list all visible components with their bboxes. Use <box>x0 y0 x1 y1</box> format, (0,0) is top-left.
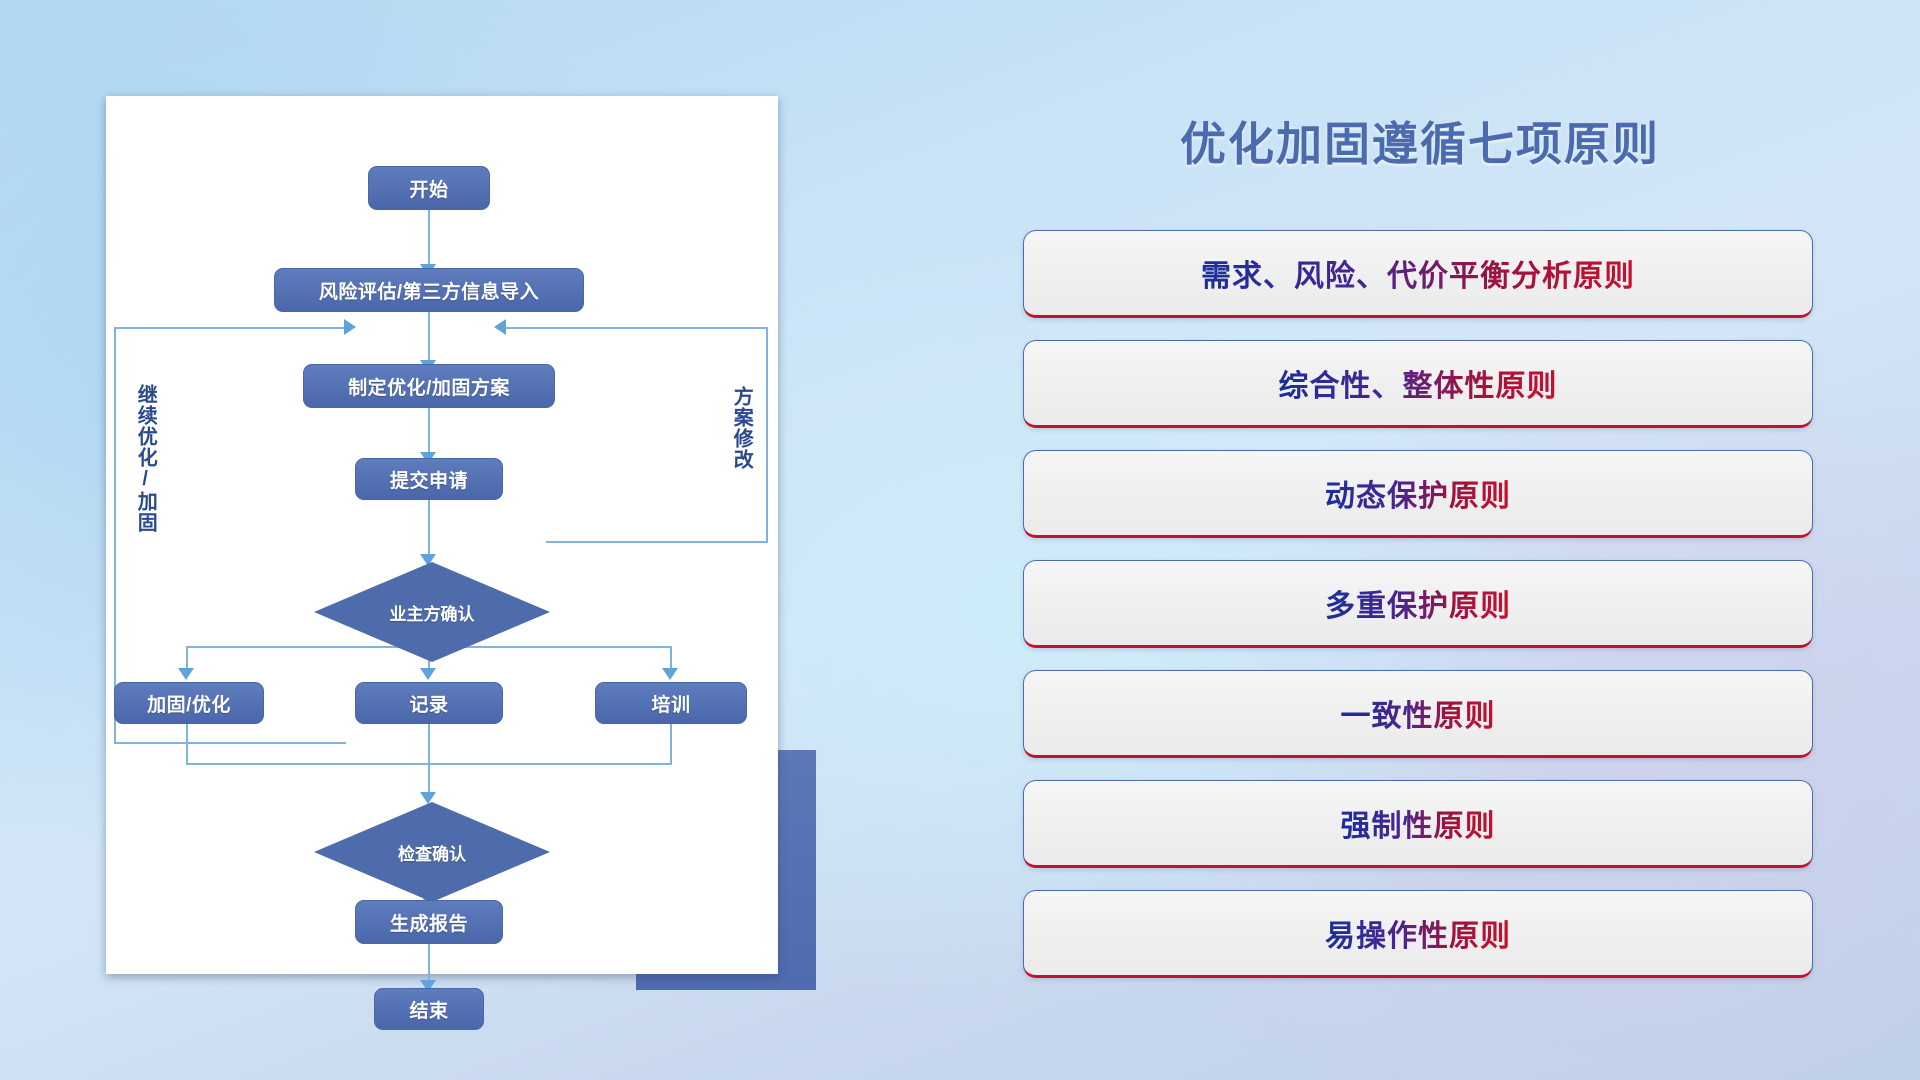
principle-card-label: 综合性、整体性原则 <box>1279 361 1558 405</box>
edge-right-rail-arrow <box>494 319 506 335</box>
flow-node-check-confirm[interactable]: 检查确认 <box>314 802 550 902</box>
flow-node-reinforce-label: 加固/优化 <box>147 690 231 717</box>
flow-node-plan-label: 制定优化/加固方案 <box>348 373 510 400</box>
edge-left-rail-v <box>114 327 116 744</box>
flow-node-start[interactable]: 开始 <box>368 166 490 210</box>
edge-owner-right-h <box>546 541 768 543</box>
flowchart-panel: 开始 风险评估/第三方信息导入 制定优化/加固方案 提交申请 业主方确认 加固/… <box>106 96 778 974</box>
edge-left-rail-arrow <box>344 319 356 335</box>
edge-training-down <box>670 724 672 764</box>
flow-node-owner-confirm-label: 业主方确认 <box>390 600 475 625</box>
principle-card[interactable]: 一致性原则 <box>1023 670 1813 758</box>
flow-node-end-label: 结束 <box>409 996 448 1023</box>
flow-node-generate-report-label: 生成报告 <box>390 909 468 936</box>
principle-card-label: 一致性原则 <box>1341 691 1496 735</box>
edge-record-down <box>428 724 430 798</box>
flow-node-generate-report[interactable]: 生成报告 <box>355 900 503 944</box>
principles-list: 需求、风险、代价平衡分析原则 综合性、整体性原则 动态保护原则 多重保护原则 一… <box>1023 230 1813 1000</box>
edge-branch-mid-arrow <box>420 668 436 680</box>
edge-left-rail-to-plan-h <box>114 327 346 329</box>
edge-label-plan-revision: 方案修改 <box>730 386 751 516</box>
flow-node-plan[interactable]: 制定优化/加固方案 <box>303 364 555 408</box>
flow-node-record[interactable]: 记录 <box>355 682 503 724</box>
flow-node-risk-assessment-label: 风险评估/第三方信息导入 <box>319 277 539 304</box>
principle-card[interactable]: 多重保护原则 <box>1023 560 1813 648</box>
flow-node-check-confirm-label: 检查确认 <box>398 840 466 865</box>
edge-branch-right-arrow <box>662 668 678 680</box>
principle-card-label: 动态保护原则 <box>1325 471 1511 515</box>
principle-card[interactable]: 动态保护原则 <box>1023 450 1813 538</box>
edge-reinforce-down <box>186 724 188 764</box>
edge-label-continue-optimize: 继续优化/加固 <box>134 384 155 564</box>
principle-card[interactable]: 综合性、整体性原则 <box>1023 340 1813 428</box>
flow-node-end[interactable]: 结束 <box>374 988 484 1030</box>
principle-card[interactable]: 强制性原则 <box>1023 780 1813 868</box>
flow-node-training-label: 培训 <box>651 690 690 717</box>
flow-node-record-label: 记录 <box>409 690 448 717</box>
edge-start-to-risk <box>428 210 430 270</box>
edge-check-left-h <box>114 742 346 744</box>
flow-node-submit-application[interactable]: 提交申请 <box>355 458 503 500</box>
edge-branch-left-arrow <box>178 668 194 680</box>
principles-title: 优化加固遵循七项原则 <box>1020 108 1820 174</box>
principle-card-label: 强制性原则 <box>1341 801 1496 845</box>
edge-submit-to-owner <box>428 500 430 562</box>
edge-right-rail-to-plan-h <box>506 327 768 329</box>
principle-card-label: 易操作性原则 <box>1325 911 1511 955</box>
flow-node-submit-application-label: 提交申请 <box>390 466 468 493</box>
edge-merge-to-check-arrow <box>420 792 436 804</box>
flow-node-reinforce[interactable]: 加固/优化 <box>114 682 264 724</box>
slide-canvas: 开始 风险评估/第三方信息导入 制定优化/加固方案 提交申请 业主方确认 加固/… <box>0 0 1920 1080</box>
flow-node-training[interactable]: 培训 <box>595 682 747 724</box>
flow-node-risk-assessment[interactable]: 风险评估/第三方信息导入 <box>274 268 584 312</box>
flow-node-start-label: 开始 <box>409 175 448 202</box>
principle-card-label: 多重保护原则 <box>1325 581 1511 625</box>
principle-card[interactable]: 易操作性原则 <box>1023 890 1813 978</box>
principle-card[interactable]: 需求、风险、代价平衡分析原则 <box>1023 230 1813 318</box>
principle-card-label: 需求、风险、代价平衡分析原则 <box>1201 251 1635 295</box>
edge-right-rail-v <box>766 327 768 543</box>
